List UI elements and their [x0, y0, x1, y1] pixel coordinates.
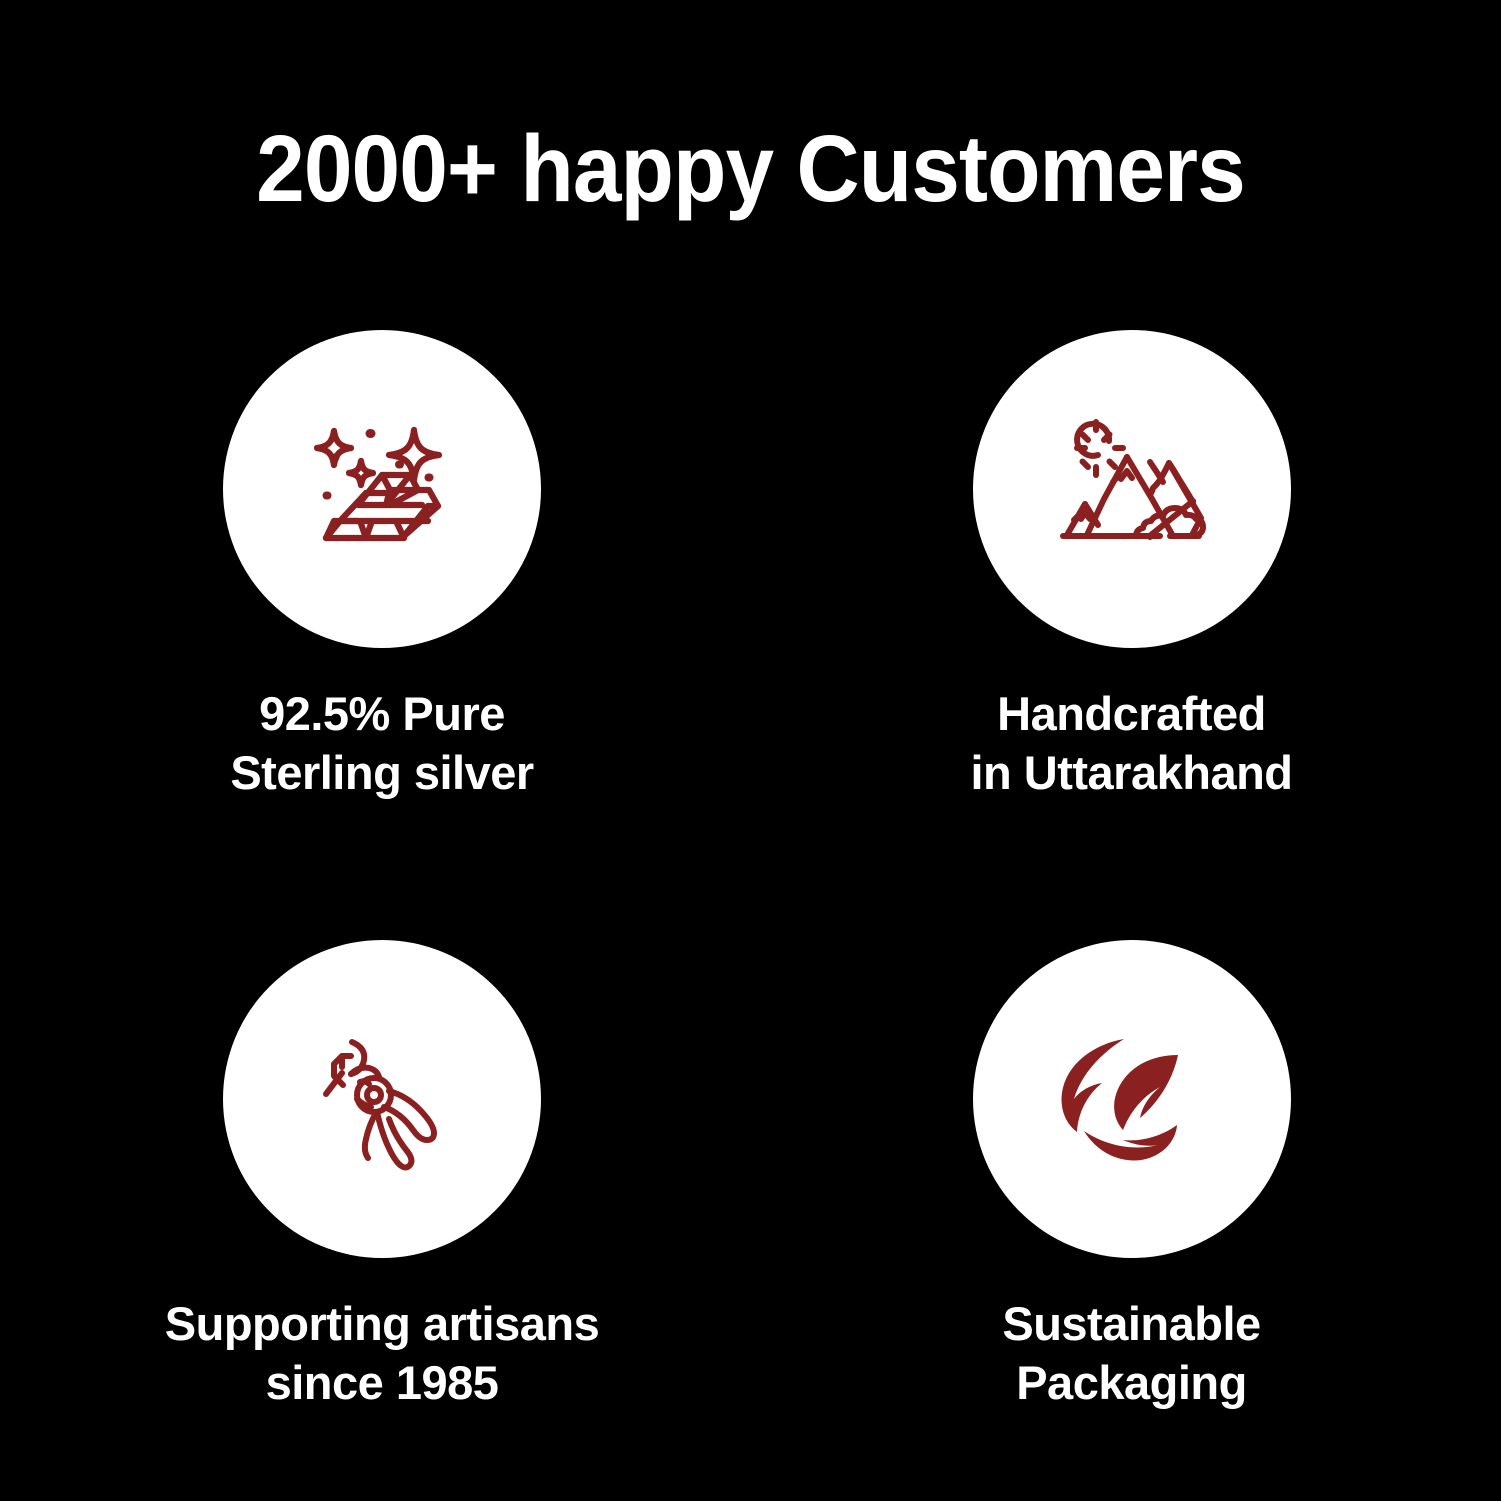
feature-label: Sustainable Packaging	[1002, 1294, 1260, 1412]
feature-label-line-1: Handcrafted	[970, 684, 1292, 743]
feature-icon-badge	[223, 940, 541, 1258]
mountains-sun-icon	[1032, 389, 1232, 589]
feature-label-line-2: since 1985	[165, 1353, 599, 1412]
feature-label: Handcrafted in Uttarakhand	[970, 684, 1292, 802]
feature-label: Supporting artisans since 1985	[165, 1294, 599, 1412]
feature-item-handcrafted: Handcrafted in Uttarakhand	[750, 330, 1501, 940]
jewelers-pliers-icon	[282, 999, 482, 1199]
feature-item-packaging: Sustainable Packaging	[750, 940, 1501, 1501]
page-title: 2000+ happy Customers	[60, 118, 1441, 221]
feature-icon-badge	[973, 940, 1291, 1258]
feature-label-line-1: Sustainable	[1002, 1294, 1260, 1353]
feature-icon-badge	[223, 330, 541, 648]
feature-label-line-1: 92.5% Pure	[230, 684, 533, 743]
feature-item-sterling-silver: 92.5% Pure Sterling silver	[0, 330, 750, 940]
feature-item-artisans: Supporting artisans since 1985	[0, 940, 750, 1501]
feature-grid: 92.5% Pure Sterling silver	[0, 330, 1501, 1501]
three-leaves-recycle-icon	[1032, 999, 1232, 1199]
promo-graphic: 2000+ happy Customers	[0, 0, 1501, 1501]
feature-label-line-2: Sterling silver	[230, 743, 533, 802]
feature-label-line-1: Supporting artisans	[165, 1294, 599, 1353]
feature-label-line-2: Packaging	[1002, 1353, 1260, 1412]
silver-bars-sparkle-icon	[282, 389, 482, 589]
feature-icon-badge	[973, 330, 1291, 648]
feature-label-line-2: in Uttarakhand	[970, 743, 1292, 802]
feature-label: 92.5% Pure Sterling silver	[230, 684, 533, 802]
